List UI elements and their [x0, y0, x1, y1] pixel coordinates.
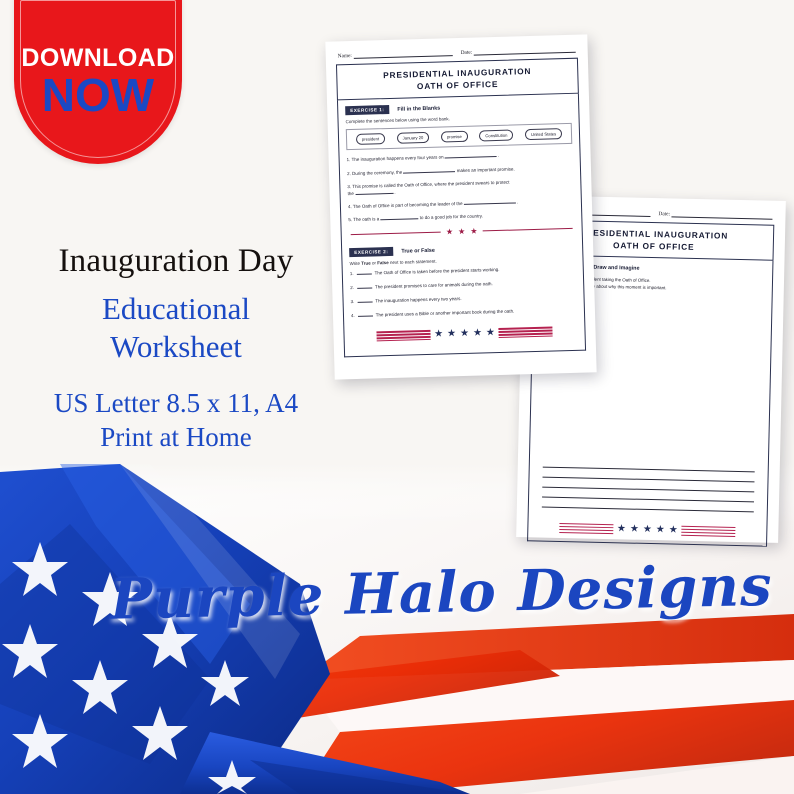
star-icon: ★: [643, 525, 652, 535]
name-label-page1: Name:: [338, 53, 352, 59]
download-now-badge[interactable]: DOWNLOAD NOW: [14, 0, 182, 164]
star-icon: ★: [460, 329, 469, 339]
star-icon: ★: [447, 330, 456, 340]
word-bank-chip[interactable]: January 20: [396, 132, 429, 144]
tf-text: The inauguration happens every two years…: [375, 296, 461, 303]
tf-answer-blank[interactable]: [357, 285, 372, 289]
worksheet-body-page1: EXERCISE 1: Fill in the Blanks Complete …: [337, 94, 586, 358]
writing-lines-group[interactable]: [542, 466, 755, 521]
exercise3-name: Draw and Imagine: [593, 264, 639, 271]
fill-blank-question-1: 1. The inauguration happens every four y…: [347, 151, 573, 164]
divider-bar-left: [351, 232, 441, 236]
question-5-tail: to do a good job for the country.: [420, 214, 483, 221]
tf-answer-blank[interactable]: [357, 271, 372, 275]
date-input-line-page1[interactable]: [474, 48, 576, 56]
question-5-text: 5. The oath is a: [348, 216, 379, 222]
footer-stripes-right: [682, 526, 736, 537]
badge-now-label: NOW: [14, 72, 182, 118]
word-bank: president January 20 promise Constitutio…: [346, 123, 572, 150]
true-false-item-4: 4.The president uses a Bible or another …: [351, 306, 577, 319]
question-2-tail: makes an important promise.: [457, 166, 515, 173]
tf-text: The president uses a Bible or another im…: [376, 308, 515, 317]
question-2-text: 2. During the ceremony, the: [347, 169, 402, 176]
brand-signature: Purple Halo Designs: [109, 553, 750, 632]
date-input-line-page2[interactable]: [672, 212, 773, 219]
footer-stripes-left: [376, 330, 430, 342]
exercise1-instruction: Complete the sentences below using the w…: [346, 113, 572, 124]
divider-bar-right: [482, 228, 572, 232]
flag-footer-page1: ★★★★★: [351, 320, 577, 342]
tf-text: The president promises to care for anima…: [375, 281, 493, 289]
answer-blank[interactable]: [380, 215, 418, 220]
product-title: Inauguration Day: [0, 243, 352, 281]
star-icon: ★: [470, 227, 477, 235]
footer-stars-page2: ★★★★★: [617, 524, 678, 535]
instruction-true: True: [361, 261, 371, 266]
star-icon: ★: [434, 330, 443, 340]
answer-blank[interactable]: [403, 168, 455, 173]
product-size-info: US Letter 8.5 x 11, A4: [0, 386, 352, 421]
question-1-text: 1. The inauguration happens every four y…: [347, 155, 444, 163]
worksheet-page-1: Name: Date: PRESIDENTIAL INAUGURATION OA…: [325, 34, 596, 379]
writing-line[interactable]: [542, 496, 754, 502]
question-3-text: 3. This promise is called the Oath of Of…: [347, 180, 509, 190]
writing-line[interactable]: [542, 506, 754, 512]
true-false-item-1: 1.The Oath of Office is taken before the…: [350, 265, 576, 278]
star-icon: ★: [656, 525, 665, 535]
fill-blank-question-3: 3. This promise is called the Oath of Of…: [347, 178, 573, 198]
product-print-info: Print at Home: [0, 420, 352, 455]
exercise1-tag: EXERCISE 1:: [345, 105, 389, 116]
answer-blank[interactable]: [464, 199, 516, 204]
tf-answer-blank[interactable]: [358, 312, 373, 316]
star-icon: ★: [669, 525, 678, 535]
question-3-tail: the: [348, 191, 354, 196]
footer-stripes-right: [499, 327, 553, 339]
word-bank-chip[interactable]: president: [356, 134, 386, 146]
exercise1-name: Fill in the Blanks: [397, 105, 440, 112]
answer-blank[interactable]: [355, 190, 393, 195]
tf-answer-blank[interactable]: [357, 298, 372, 302]
product-listing-image: DOWNLOAD NOW Inauguration Day Educationa…: [0, 0, 794, 794]
word-bank-chip[interactable]: Constitution: [479, 130, 513, 142]
name-date-row-page1: Name: Date:: [338, 47, 576, 60]
exercise2-name: True or False: [401, 247, 435, 254]
true-false-item-3: 3.The inauguration happens every two yea…: [351, 293, 577, 306]
fill-blank-question-5: 5. The oath is a to do a good job for th…: [348, 211, 574, 224]
writing-line[interactable]: [543, 476, 755, 482]
star-icon: ★: [458, 228, 465, 236]
date-label-page2: Date:: [658, 211, 670, 217]
star-divider: ★ ★ ★: [351, 225, 573, 239]
name-input-line-page1[interactable]: [354, 51, 453, 59]
instruction-false: False: [377, 260, 389, 265]
star-icon: ★: [630, 525, 639, 535]
true-false-item-2: 2.The president promises to care for ani…: [350, 279, 576, 292]
question-4-text: 4. The Oath of Office is part of becomin…: [348, 201, 463, 209]
word-bank-chip[interactable]: promise: [441, 131, 468, 143]
fill-blank-question-4: 4. The Oath of Office is part of becomin…: [348, 198, 574, 211]
answer-blank[interactable]: [445, 153, 497, 158]
word-bank-chip[interactable]: United States: [525, 129, 562, 141]
writing-line[interactable]: [542, 486, 754, 492]
footer-stripes-left: [559, 523, 613, 534]
footer-stars-page1: ★★★★★: [434, 328, 495, 340]
marketing-text-block: Inauguration Day Educational Worksheet U…: [0, 243, 352, 455]
star-icon: ★: [486, 328, 495, 338]
fill-blank-question-2: 2. During the ceremony, the makes an imp…: [347, 165, 573, 178]
star-icon: ★: [473, 329, 482, 339]
product-subtitle-line2: Worksheet: [0, 328, 352, 366]
product-subtitle-line1: Educational: [0, 290, 352, 328]
tf-text: The Oath of Office is taken before the p…: [375, 267, 500, 275]
date-label-page1: Date:: [461, 50, 473, 56]
star-icon: ★: [446, 228, 453, 236]
exercise2-tag: EXERCISE 2:: [349, 247, 393, 258]
exercise2-instruction: Write True or False next to each stateme…: [349, 255, 575, 266]
star-icon: ★: [617, 524, 626, 534]
instruction-post: next to each statement.: [389, 259, 437, 265]
